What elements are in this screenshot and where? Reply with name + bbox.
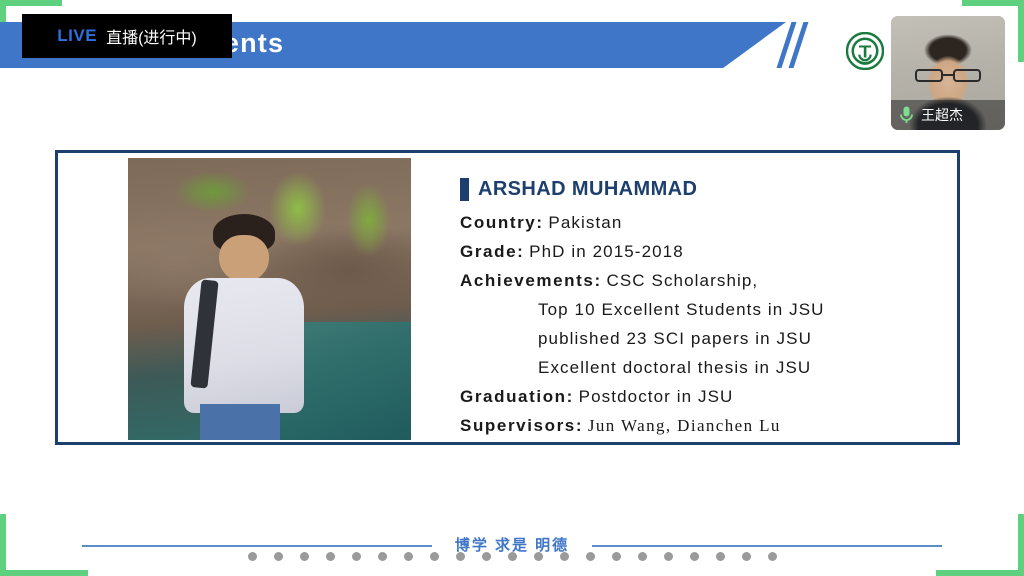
footer-dot <box>612 552 621 561</box>
student-photo-person <box>179 214 309 440</box>
share-frame-bottom-left-horizontal <box>0 570 88 576</box>
info-label-achievements: Achievements <box>460 271 594 290</box>
footer-dot <box>456 552 465 561</box>
footer-dot <box>326 552 335 561</box>
info-label-country: Country <box>460 213 536 232</box>
info-label-supervisors: Supervisors <box>460 416 576 435</box>
info-value-achievements: CSC Scholarship, <box>606 271 758 290</box>
info-value-graduation: Postdoctor in JSU <box>579 387 734 406</box>
achievement-line-2: published 23 SCI papers in JSU <box>460 324 940 353</box>
share-frame-bottom-right-horizontal <box>936 570 1024 576</box>
achievement-line-1: Top 10 Excellent Students in JSU <box>460 295 940 324</box>
participant-glasses <box>915 68 981 83</box>
share-frame-top-right-vertical <box>1018 0 1024 62</box>
info-separator-supervisors: : <box>576 416 583 435</box>
screen-share-view: ng students LIVE 直播(进行中) <box>0 0 1024 576</box>
participant-name: 王超杰 <box>921 105 963 125</box>
live-status-text: 直播(进行中) <box>106 24 197 48</box>
info-value-country: Pakistan <box>548 213 622 232</box>
footer-dot <box>742 552 751 561</box>
footer-dot <box>378 552 387 561</box>
info-separator-achievements: : <box>594 271 601 290</box>
share-frame-top-left-horizontal <box>0 0 62 6</box>
footer-dot-row <box>0 552 1024 561</box>
info-row-country: Country: Pakistan <box>460 208 940 237</box>
footer-dot <box>352 552 361 561</box>
info-separator-graduation: : <box>567 387 574 406</box>
footer-dot <box>430 552 439 561</box>
share-frame-top-right-horizontal <box>962 0 1024 6</box>
footer-dot <box>560 552 569 561</box>
participant-video-tile[interactable]: 王超杰 <box>891 16 1005 130</box>
name-accent-bar <box>460 178 469 201</box>
info-separator-country: : <box>536 213 543 232</box>
info-row-graduation: Graduation: Postdoctor in JSU <box>460 382 940 411</box>
info-row-grade: Grade: PhD in 2015-2018 <box>460 237 940 266</box>
person-jeans <box>200 404 281 440</box>
person-face <box>219 235 268 282</box>
footer-dot <box>586 552 595 561</box>
footer-dot <box>508 552 517 561</box>
info-value-grade: PhD in 2015-2018 <box>529 242 684 261</box>
info-value-supervisors: Jun Wang, Dianchen Lu <box>588 416 781 435</box>
achievement-line-3: Excellent doctoral thesis in JSU <box>460 353 940 382</box>
footer-dot <box>300 552 309 561</box>
live-status-badge: LIVE 直播(进行中) <box>22 14 232 58</box>
footer-dot <box>274 552 283 561</box>
achievement-text-1: Top 10 Excellent Students in JSU <box>538 300 825 319</box>
student-photo <box>128 158 411 440</box>
live-label: LIVE <box>57 26 97 46</box>
student-name-row: ARSHAD MUHAMMAD <box>460 178 940 201</box>
footer-dot <box>482 552 491 561</box>
info-separator-grade: : <box>517 242 524 261</box>
footer-dot <box>248 552 257 561</box>
footer-dot <box>664 552 673 561</box>
info-label-graduation: Graduation <box>460 387 567 406</box>
footer-dot <box>716 552 725 561</box>
info-row-achievements: Achievements: CSC Scholarship, <box>460 266 940 295</box>
microphone-icon <box>898 105 915 125</box>
info-label-grade: Grade <box>460 242 517 261</box>
student-info-block: ARSHAD MUHAMMAD Country: Pakistan Grade:… <box>460 178 940 440</box>
achievement-text-3: Excellent doctoral thesis in JSU <box>538 358 811 377</box>
info-row-supervisors: Supervisors: Jun Wang, Dianchen Lu <box>460 411 940 440</box>
jiangsu-university-seal-icon <box>846 32 884 70</box>
footer-dot <box>768 552 777 561</box>
footer-dot <box>690 552 699 561</box>
participant-name-bar: 王超杰 <box>891 100 1005 130</box>
footer-dot <box>534 552 543 561</box>
footer-dot <box>638 552 647 561</box>
achievement-text-2: published 23 SCI papers in JSU <box>538 329 812 348</box>
footer-dot <box>404 552 413 561</box>
student-name: ARSHAD MUHAMMAD <box>478 178 697 201</box>
